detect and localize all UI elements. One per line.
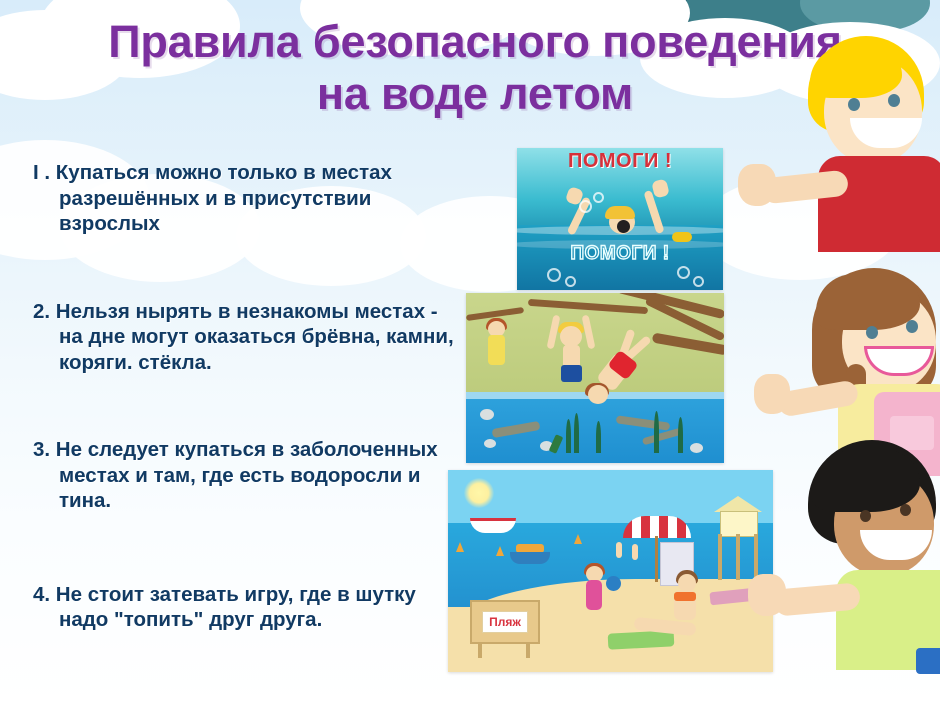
bank-girl-body bbox=[488, 335, 505, 365]
dark-boy-eye bbox=[900, 504, 911, 516]
water-weed bbox=[566, 419, 571, 453]
girl-eye bbox=[866, 326, 878, 339]
bubble-icon bbox=[565, 276, 576, 287]
girl-fringe bbox=[816, 274, 920, 330]
beach-umbrella-canopy bbox=[623, 516, 691, 538]
tower-leg bbox=[718, 534, 722, 580]
beach-umbrella-pole bbox=[655, 536, 658, 582]
dark-boy-eye bbox=[860, 510, 871, 522]
sunbather-swimsuit bbox=[674, 592, 696, 601]
swimmer-right-hand bbox=[651, 178, 670, 198]
water-weed bbox=[574, 413, 579, 453]
bubble-icon bbox=[593, 192, 604, 203]
dark-boy-fringe bbox=[812, 450, 920, 512]
girl-eye bbox=[906, 320, 918, 333]
beach-sign-label: Пляж bbox=[482, 611, 528, 633]
submerged-stone bbox=[484, 439, 496, 448]
diving-into-unknown-water-illustration bbox=[466, 293, 724, 463]
submerged-stone bbox=[690, 443, 703, 453]
drowning-swimmer-illustration: ПОМОГИ ! ПОМОГИ ! bbox=[517, 148, 723, 290]
hanging-boy-head bbox=[560, 326, 582, 347]
rule-item-4: 4. Не стоит затевать игру, где в шутку н… bbox=[33, 582, 463, 633]
sun-icon bbox=[464, 478, 494, 508]
blonde-boy-character bbox=[780, 36, 940, 246]
ball-girl-body bbox=[586, 580, 602, 610]
dark-hair-boy-character bbox=[788, 440, 940, 670]
swimmer-foot bbox=[672, 232, 692, 242]
beach-sign: Пляж bbox=[470, 600, 540, 644]
safe-supervised-beach-illustration: Пляж bbox=[448, 470, 773, 672]
lifeguard-tower bbox=[710, 496, 766, 580]
hanging-boy-shorts bbox=[561, 365, 582, 382]
bubble-icon bbox=[579, 200, 592, 213]
submerged-stone bbox=[480, 409, 494, 420]
tower-roof bbox=[714, 496, 762, 512]
blonde-boy-hand bbox=[738, 164, 776, 206]
dark-boy-shorts bbox=[916, 648, 940, 674]
water-weed bbox=[596, 421, 601, 453]
bubble-icon bbox=[677, 266, 690, 279]
pedal-boat bbox=[510, 552, 550, 564]
blonde-boy-eye bbox=[848, 98, 860, 111]
bubble-icon bbox=[547, 268, 561, 282]
dark-boy-hand bbox=[748, 574, 786, 616]
water-weed bbox=[654, 411, 659, 453]
beach-ball bbox=[606, 576, 621, 591]
blonde-boy-eye bbox=[888, 94, 900, 107]
wading-person bbox=[632, 544, 638, 560]
help-caption-bottom: ПОМОГИ ! bbox=[517, 243, 723, 265]
wading-person bbox=[616, 542, 622, 558]
page-title: Правила безопасного поведения на воде ле… bbox=[95, 16, 855, 120]
sunbather-head bbox=[678, 574, 696, 592]
slide-canvas: Правила безопасного поведения на воде ле… bbox=[0, 0, 940, 705]
bubble-icon bbox=[693, 276, 704, 287]
rules-list: I . Купаться можно только в местах разре… bbox=[33, 160, 463, 633]
swimmer-hair bbox=[605, 206, 635, 219]
girl-hand bbox=[754, 374, 790, 414]
rule-item-2: 2. Нельзя нырять в незнакомы местах - на… bbox=[33, 299, 463, 376]
rule-item-3: 3. Не следует купаться в заболоченных ме… bbox=[33, 437, 463, 514]
water-weed bbox=[678, 417, 683, 453]
swimmer-open-mouth bbox=[617, 220, 630, 233]
rule-item-1: I . Купаться можно только в местах разре… bbox=[33, 160, 463, 237]
tower-leg bbox=[754, 534, 758, 580]
tower-leg bbox=[736, 534, 740, 580]
blonde-boy-fringe bbox=[810, 46, 902, 98]
diving-boy-head bbox=[588, 385, 608, 404]
help-caption-top: ПОМОГИ ! bbox=[517, 150, 723, 173]
